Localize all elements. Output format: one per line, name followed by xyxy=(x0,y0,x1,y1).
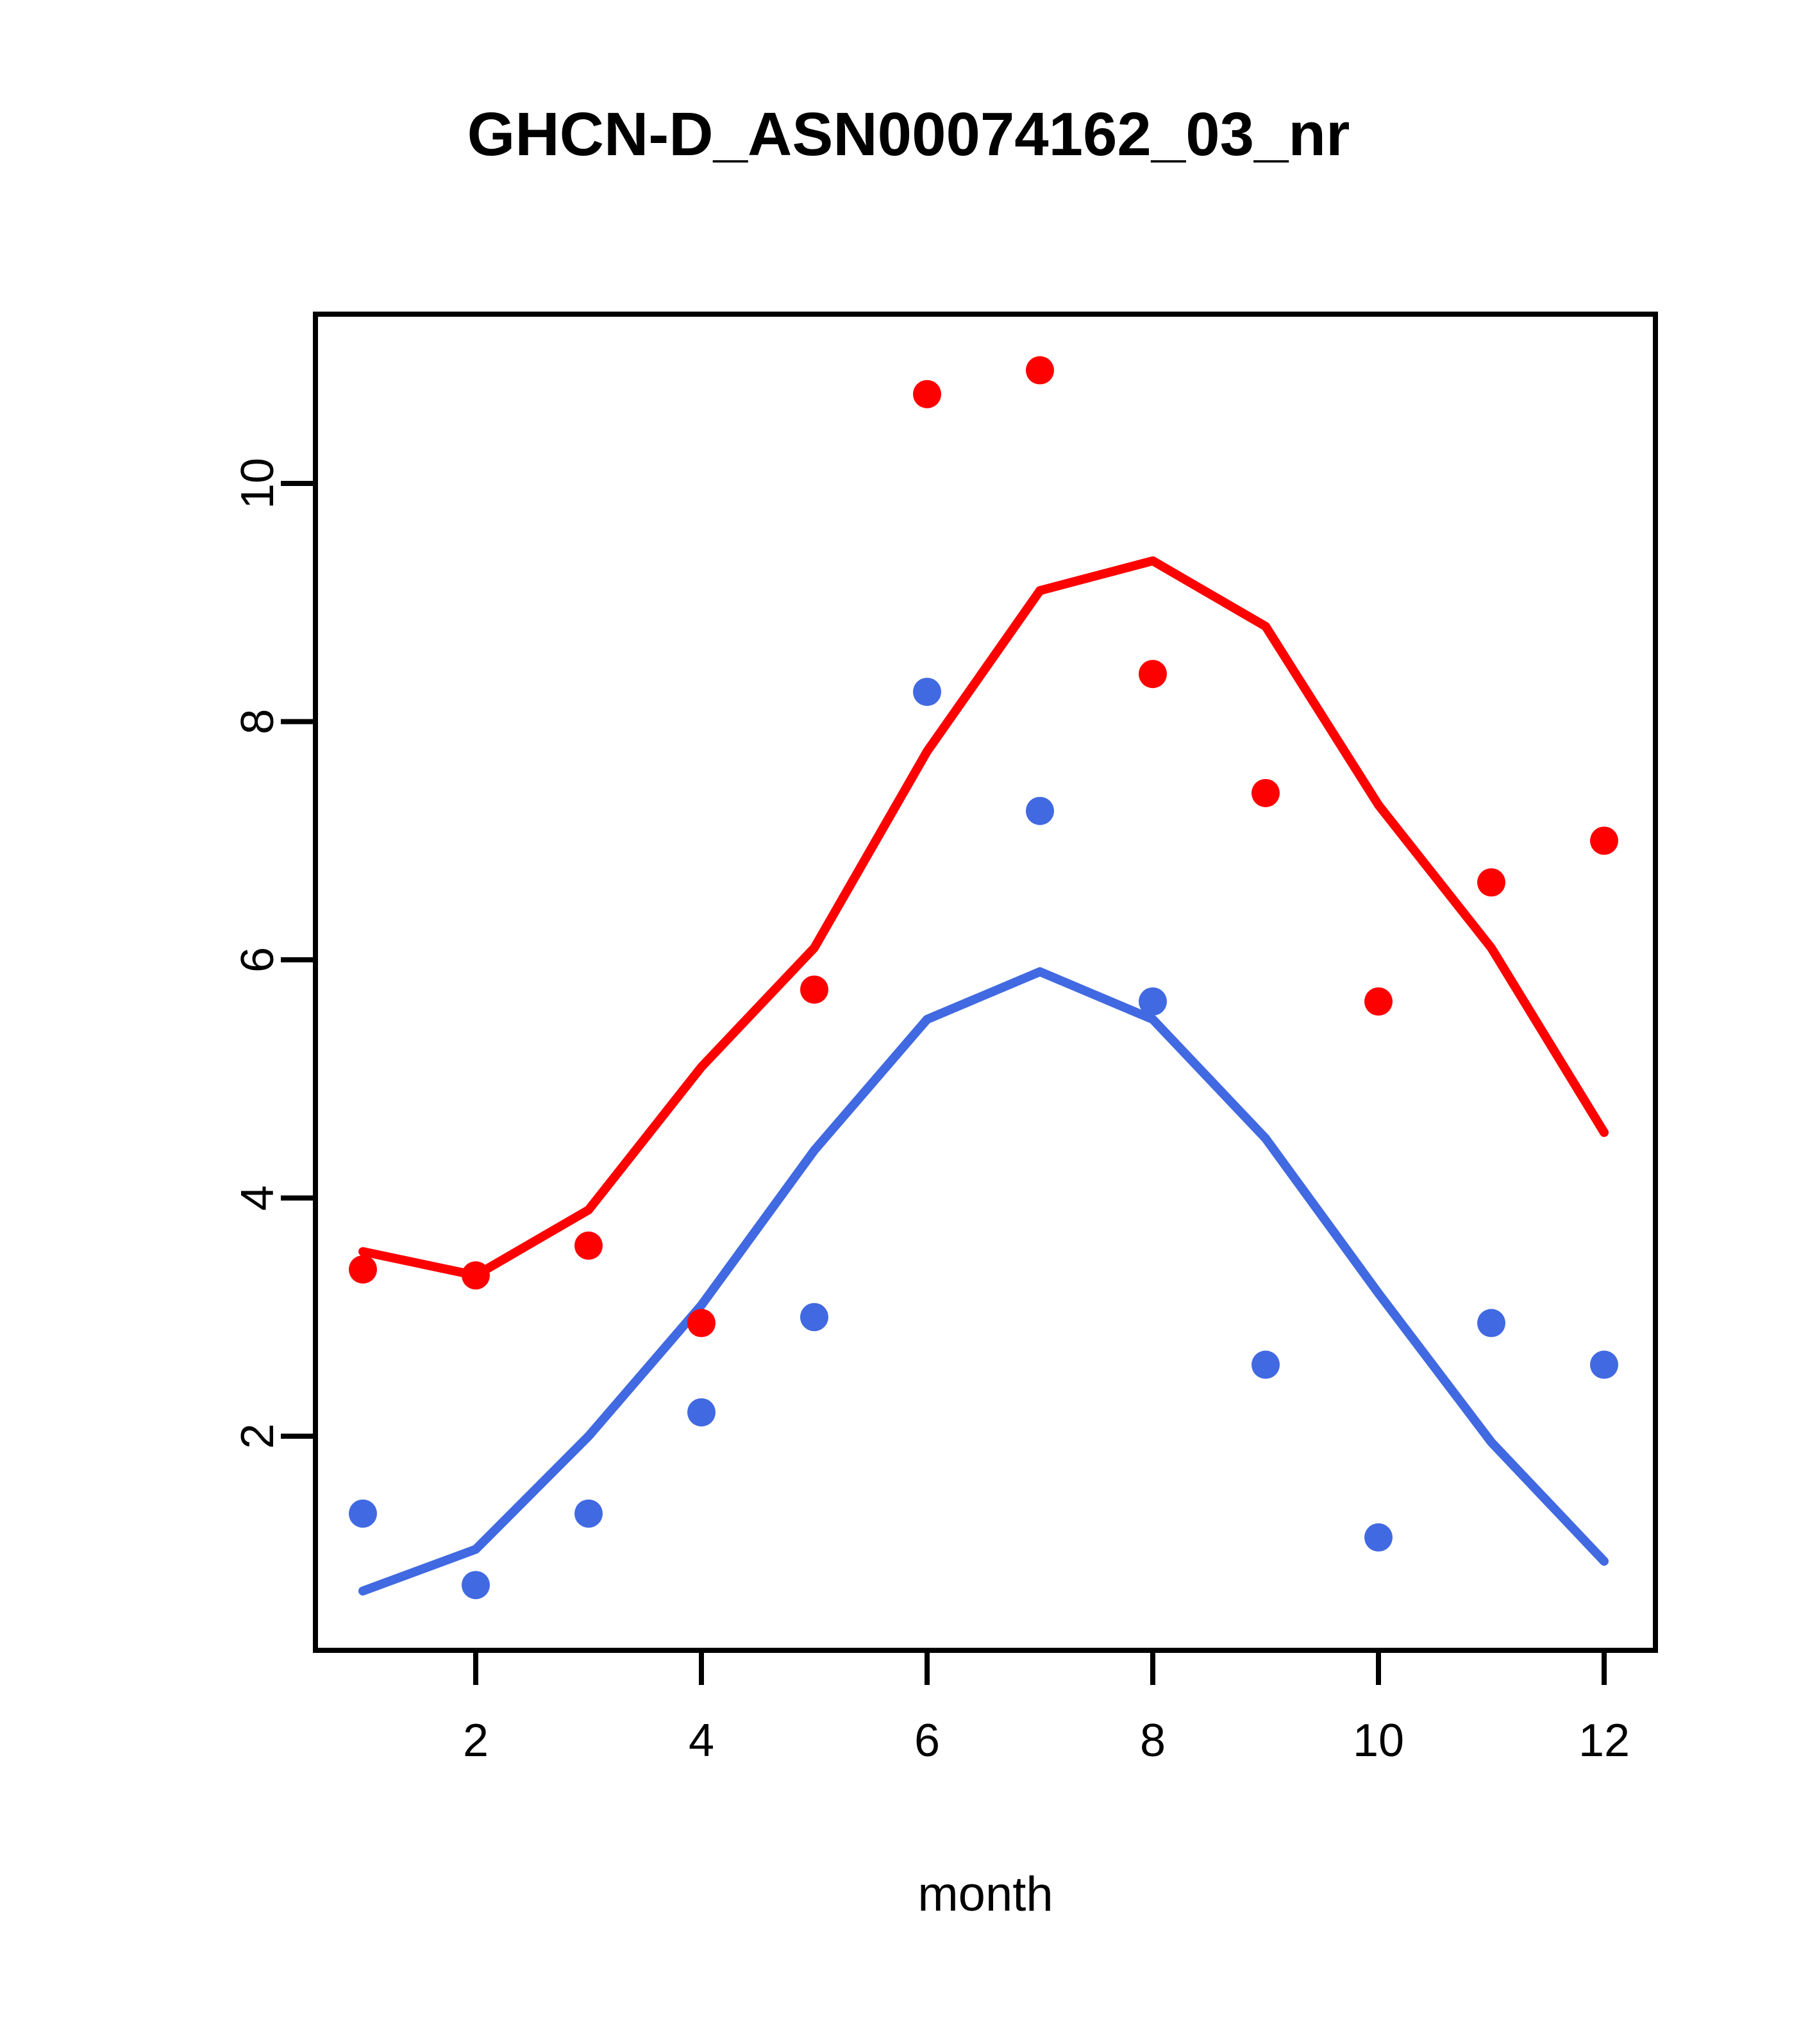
data-point xyxy=(349,1500,377,1528)
data-point xyxy=(1026,797,1054,825)
series-points-red-points xyxy=(349,356,1618,1337)
x-axis-tick-label: 12 xyxy=(1578,1715,1630,1766)
y-axis-tick-label: 2 xyxy=(232,1423,283,1449)
data-series xyxy=(349,356,1618,1600)
data-point xyxy=(1252,779,1280,807)
data-point xyxy=(913,678,941,706)
chart-figure: GHCN-D_ASN00074162_03_nr 246810 24681012… xyxy=(0,0,1817,2044)
data-point xyxy=(1026,356,1054,385)
data-point xyxy=(687,1398,716,1427)
data-point xyxy=(462,1571,490,1599)
data-point xyxy=(1477,1309,1505,1337)
data-point xyxy=(349,1255,377,1284)
data-point xyxy=(800,975,828,1003)
y-axis-tick-label: 4 xyxy=(232,1185,283,1210)
x-axis-tick-label: 2 xyxy=(463,1715,489,1766)
data-point xyxy=(574,1232,603,1260)
y-axis: 246810 xyxy=(232,458,315,1449)
y-axis-tick-label: 6 xyxy=(232,947,283,973)
plot-area: 246810 24681012 month xyxy=(0,0,1817,2044)
data-point xyxy=(1590,826,1618,855)
data-point xyxy=(1364,987,1393,1016)
data-point xyxy=(1477,868,1505,896)
data-point xyxy=(1590,1351,1618,1379)
series-line-red-line xyxy=(363,561,1604,1276)
y-axis-tick-label: 10 xyxy=(232,458,283,509)
data-point xyxy=(687,1309,716,1337)
x-axis: 24681012 xyxy=(463,1650,1630,1766)
x-axis-label: month xyxy=(917,1867,1053,1922)
data-point xyxy=(574,1500,603,1528)
data-point xyxy=(1364,1523,1393,1552)
y-axis-tick-label: 8 xyxy=(232,708,283,734)
data-point xyxy=(1139,987,1167,1016)
data-point xyxy=(913,380,941,408)
data-point xyxy=(800,1303,828,1331)
data-point xyxy=(1139,660,1167,688)
x-axis-tick-label: 4 xyxy=(689,1715,714,1766)
x-axis-tick-label: 8 xyxy=(1140,1715,1166,1766)
plot-border xyxy=(315,314,1655,1650)
series-line-blue-line xyxy=(363,972,1604,1591)
x-axis-tick-label: 10 xyxy=(1353,1715,1404,1766)
series-points-blue-points xyxy=(349,678,1618,1599)
x-axis-tick-label: 6 xyxy=(914,1715,940,1766)
data-point xyxy=(1252,1351,1280,1379)
data-point xyxy=(462,1261,490,1289)
